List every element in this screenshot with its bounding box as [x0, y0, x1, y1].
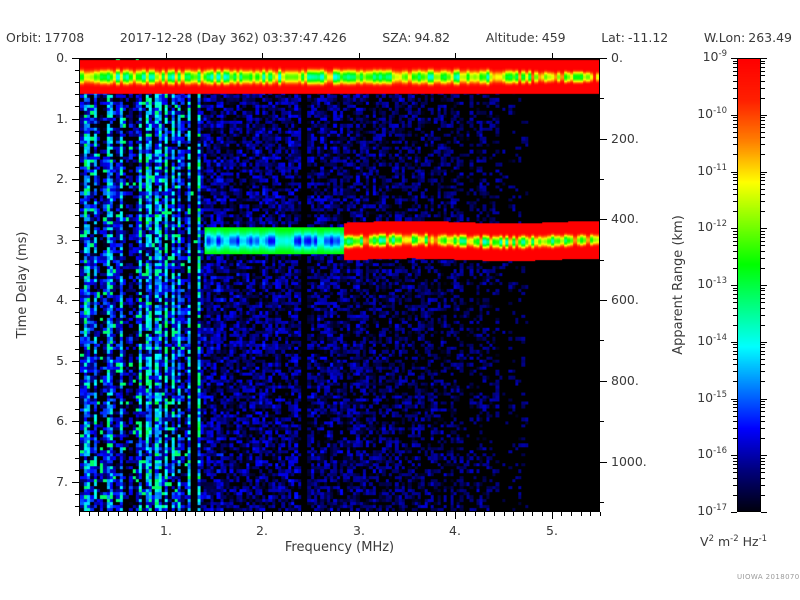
y-tick-label-7: 7. [0, 474, 68, 489]
cbar-tick-minor-left [733, 237, 737, 238]
cbar-tick-minor-right [761, 416, 765, 417]
cbar-tick-minor-left [733, 177, 737, 178]
y2-tick-minor [600, 98, 604, 99]
cbar-tick-minor-right [761, 411, 765, 412]
cbar-tick-minor-right [761, 468, 765, 469]
cbar-tick-mantissa: 10 [697, 106, 713, 121]
cbar-tick-minor-right [761, 67, 765, 68]
cbar-tick-minor-left [733, 308, 737, 309]
y-tick-minor [75, 324, 79, 325]
cbar-tick-minor-left [733, 344, 737, 345]
y-tick-label-6: 6. [0, 413, 68, 428]
cbar-tick-minor-left [733, 189, 737, 190]
y-tick-minor [75, 312, 79, 313]
y-tick-minor [75, 385, 79, 386]
cbar-tick-major-right [761, 399, 767, 400]
y2-tick-minor [600, 421, 604, 422]
cbar-tick-exponent: -9 [719, 49, 727, 59]
cbar-tick-minor-left [733, 458, 737, 459]
cbar-tick-minor-right [761, 308, 765, 309]
cbar-tick-major-right [761, 228, 767, 229]
cbar-tick-minor-right [761, 359, 765, 360]
cbar-tick-minor-right [761, 485, 765, 486]
cbar-tick-minor-right [761, 184, 765, 185]
cbar-tick-minor-right [761, 495, 765, 496]
y-tick-minor [75, 252, 79, 253]
cbar-tick-minor-left [733, 194, 737, 195]
cbar-tick-minor-right [761, 268, 765, 269]
y-tick-major [72, 300, 79, 301]
cbar-tick-minor-right [761, 458, 765, 459]
cbar-unit-hz: Hz [739, 534, 759, 549]
cbar-tick-minor-right [761, 137, 765, 138]
cbar-tick-major-right [761, 512, 767, 513]
cbar-tick-major-left [731, 228, 737, 229]
cbar-tick-minor-left [733, 201, 737, 202]
cbar-tick-minor-right [761, 231, 765, 232]
cbar-tick-label-7: 10-16 [0, 446, 727, 461]
cbar-tick-major-left [731, 172, 737, 173]
cbar-tick-minor-right [761, 302, 765, 303]
cbar-tick-minor-right [761, 237, 765, 238]
cbar-tick-label-5: 10-14 [0, 333, 727, 348]
cbar-tick-minor-right [761, 132, 765, 133]
cbar-tick-minor-right [761, 364, 765, 365]
header-field-value: 263.49 [748, 30, 792, 45]
cbar-tick-exponent: -16 [713, 446, 727, 456]
cbar-tick-minor-right [761, 61, 765, 62]
cbar-tick-minor-right [761, 288, 765, 289]
x-tick-label-4: 5. [538, 523, 566, 538]
cbar-tick-minor-left [733, 351, 737, 352]
y-tick-minor [75, 143, 79, 144]
cbar-tick-major-right [761, 342, 767, 343]
cbar-tick-label-0: 10-9 [0, 49, 727, 64]
cbar-tick-major-right [761, 115, 767, 116]
cbar-tick-minor-left [733, 61, 737, 62]
cbar-tick-minor-right [761, 63, 765, 64]
cbar-tick-minor-left [733, 132, 737, 133]
cbar-tick-minor-right [761, 428, 765, 429]
y-tick-minor [75, 70, 79, 71]
header-field-0: Orbit:17708 [6, 30, 84, 45]
y-tick-minor [75, 494, 79, 495]
cbar-tick-minor-right [761, 124, 765, 125]
y-tick-minor [75, 203, 79, 204]
cbar-tick-minor-right [761, 144, 765, 145]
header-field-key: Lat: [601, 30, 625, 45]
cbar-tick-minor-left [733, 180, 737, 181]
cbar-tick-mantissa: 10 [697, 446, 713, 461]
header-field-1: 2017-12-28 (Day 362) 03:37:47.426 [120, 30, 347, 45]
y-tick-minor [75, 470, 79, 471]
cbar-tick-exponent: -13 [713, 276, 727, 286]
cbar-tick-minor-right [761, 421, 765, 422]
cbar-tick-minor-left [733, 288, 737, 289]
cbar-tick-minor-right [761, 438, 765, 439]
cbar-unit-m: m [714, 534, 730, 549]
cbar-tick-mantissa: 10 [697, 276, 713, 291]
colorbar-unit-label: V2 m-2 Hz-1 [700, 534, 767, 549]
cbar-tick-minor-right [761, 478, 765, 479]
cbar-tick-minor-left [733, 411, 737, 412]
cbar-tick-minor-right [761, 351, 765, 352]
header-field-key: Orbit: [6, 30, 42, 45]
cbar-tick-minor-left [733, 315, 737, 316]
cbar-tick-minor-right [761, 315, 765, 316]
cbar-tick-minor-left [733, 98, 737, 99]
header-field-key: W.Lon: [704, 30, 745, 45]
y-tick-major [72, 361, 79, 362]
cbar-tick-minor-right [761, 177, 765, 178]
ionogram-figure: Orbit:177082017-12-28 (Day 362) 03:37:47… [0, 0, 800, 600]
cbar-tick-mantissa: 10 [697, 219, 713, 234]
cbar-tick-minor-left [733, 407, 737, 408]
cbar-tick-minor-right [761, 245, 765, 246]
cbar-tick-minor-right [761, 211, 765, 212]
y-tick-minor [75, 82, 79, 83]
cbar-tick-minor-right [761, 88, 765, 89]
cbar-tick-minor-left [733, 359, 737, 360]
y-tick-label-5: 5. [0, 353, 68, 368]
header-field-key: Altitude: [486, 30, 539, 45]
cbar-tick-minor-right [761, 298, 765, 299]
cbar-tick-major-right [761, 58, 767, 59]
header-field-key: SZA: [382, 30, 411, 45]
cbar-tick-label-1: 10-10 [0, 106, 727, 121]
y-tick-minor [75, 349, 79, 350]
header-field-value: 459 [542, 30, 566, 45]
cbar-tick-minor-left [733, 298, 737, 299]
cbar-tick-minor-left [733, 478, 737, 479]
cbar-tick-minor-left [733, 364, 737, 365]
y2-tick-major [600, 381, 607, 382]
cbar-tick-minor-right [761, 81, 765, 82]
cbar-tick-minor-left [733, 421, 737, 422]
cbar-tick-major-left [731, 342, 737, 343]
x-tick-label-2: 3. [345, 523, 373, 538]
cbar-tick-minor-right [761, 401, 765, 402]
y2-tick-major [600, 300, 607, 301]
header-field-value: 94.82 [414, 30, 450, 45]
header-field-5: W.Lon:263.49 [704, 30, 792, 45]
cbar-tick-minor-right [761, 472, 765, 473]
cbar-tick-major-right [761, 285, 767, 286]
cbar-tick-minor-right [761, 344, 765, 345]
y-tick-major [72, 240, 79, 241]
y2-tick-major [600, 139, 607, 140]
cbar-tick-exponent: -14 [713, 333, 727, 343]
cbar-tick-minor-right [761, 371, 765, 372]
cbar-tick-label-3: 10-12 [0, 219, 727, 234]
header-field-value: 17708 [45, 30, 85, 45]
y2-tick-minor [600, 260, 604, 261]
cbar-tick-minor-right [761, 127, 765, 128]
cbar-tick-major-left [731, 115, 737, 116]
y-tick-minor [75, 131, 79, 132]
x-tick-label-3: 4. [441, 523, 469, 538]
cbar-tick-minor-left [733, 495, 737, 496]
y-tick-major [72, 421, 79, 422]
cbar-tick-mantissa: 10 [697, 503, 713, 518]
cbar-tick-minor-left [733, 174, 737, 175]
cbar-tick-exponent: -15 [713, 390, 727, 400]
cbar-tick-minor-left [733, 71, 737, 72]
cbar-tick-minor-left [733, 81, 737, 82]
cbar-tick-label-4: 10-13 [0, 276, 727, 291]
y-tick-minor [75, 191, 79, 192]
y2-tick-label-4: 800. [611, 373, 639, 388]
y-tick-major [72, 482, 79, 483]
cbar-tick-minor-left [733, 245, 737, 246]
y-tick-minor [75, 264, 79, 265]
cbar-tick-minor-right [761, 120, 765, 121]
cbar-tick-minor-right [761, 154, 765, 155]
y-tick-minor [75, 155, 79, 156]
cbar-tick-minor-left [733, 184, 737, 185]
cbar-tick-minor-right [761, 294, 765, 295]
cbar-tick-minor-left [733, 75, 737, 76]
cbar-tick-minor-left [733, 290, 737, 291]
cbar-tick-minor-right [761, 71, 765, 72]
cbar-unit-m-exp: -2 [730, 534, 738, 544]
cbar-tick-minor-left [733, 211, 737, 212]
cbar-tick-mantissa: 10 [697, 163, 713, 178]
y-tick-minor [75, 94, 79, 95]
cbar-tick-minor-left [733, 268, 737, 269]
cbar-tick-minor-left [733, 120, 737, 121]
y2-tick-major [600, 462, 607, 463]
cbar-tick-minor-right [761, 98, 765, 99]
y2-tick-minor [600, 179, 604, 180]
cbar-tick-minor-right [761, 347, 765, 348]
colorbar-gradient [738, 59, 760, 511]
cbar-tick-minor-right [761, 464, 765, 465]
cbar-tick-minor-right [761, 354, 765, 355]
cbar-tick-minor-right [761, 194, 765, 195]
cbar-tick-major-right [761, 455, 767, 456]
cbar-tick-mantissa: 10 [697, 390, 713, 405]
cbar-tick-minor-right [761, 407, 765, 408]
y2-tick-label-3: 600. [611, 292, 639, 307]
cbar-tick-minor-right [761, 234, 765, 235]
y-tick-minor [75, 409, 79, 410]
cbar-tick-label-8: 10-17 [0, 503, 727, 518]
cbar-tick-minor-left [733, 154, 737, 155]
y-tick-minor [75, 433, 79, 434]
cbar-tick-minor-left [733, 67, 737, 68]
cbar-tick-minor-left [733, 241, 737, 242]
cbar-tick-major-right [761, 172, 767, 173]
header-field-value: 2017-12-28 (Day 362) 03:37:47.426 [120, 30, 347, 45]
cbar-tick-exponent: -10 [713, 106, 727, 116]
y-tick-major [72, 179, 79, 180]
cbar-tick-minor-left [733, 464, 737, 465]
cbar-tick-minor-left [733, 251, 737, 252]
y-tick-label-4: 4. [0, 292, 68, 307]
cbar-tick-minor-left [733, 88, 737, 89]
cbar-tick-minor-left [733, 127, 737, 128]
cbar-tick-major-left [731, 285, 737, 286]
cbar-tick-minor-left [733, 404, 737, 405]
cbar-tick-minor-right [761, 117, 765, 118]
cbar-tick-minor-right [761, 75, 765, 76]
cbar-tick-minor-right [761, 258, 765, 259]
cbar-tick-minor-right [761, 180, 765, 181]
header-field-4: Lat:-11.12 [601, 30, 668, 45]
cbar-tick-minor-left [733, 347, 737, 348]
cbar-tick-minor-left [733, 325, 737, 326]
cbar-tick-minor-left [733, 354, 737, 355]
cbar-tick-minor-left [733, 401, 737, 402]
cbar-tick-minor-left [733, 381, 737, 382]
cbar-unit-hz-exp: -1 [759, 534, 767, 544]
cbar-tick-minor-left [733, 124, 737, 125]
cbar-tick-minor-right [761, 251, 765, 252]
cbar-tick-mantissa: 10 [697, 333, 713, 348]
cbar-tick-minor-left [733, 144, 737, 145]
cbar-tick-minor-left [733, 472, 737, 473]
cbar-tick-minor-right [761, 290, 765, 291]
cbar-tick-major-left [731, 512, 737, 513]
cbar-tick-major-left [731, 399, 737, 400]
cbar-tick-exponent: -11 [713, 163, 727, 173]
cbar-unit-v: V [700, 534, 709, 549]
cbar-tick-minor-right [761, 381, 765, 382]
cbar-tick-minor-left [733, 258, 737, 259]
cbar-tick-minor-left [733, 371, 737, 372]
cbar-tick-minor-left [733, 438, 737, 439]
cbar-tick-minor-left [733, 468, 737, 469]
cbar-tick-minor-right [761, 174, 765, 175]
cbar-tick-minor-left [733, 302, 737, 303]
x-tick-label-1: 2. [248, 523, 276, 538]
y2-tick-label-1: 200. [611, 131, 639, 146]
cbar-tick-minor-right [761, 325, 765, 326]
cbar-tick-minor-left [733, 461, 737, 462]
cbar-tick-exponent: -17 [713, 503, 727, 513]
header-field-3: Altitude:459 [486, 30, 566, 45]
cbar-tick-mantissa: 10 [703, 49, 719, 64]
cbar-tick-minor-right [761, 189, 765, 190]
y-tick-minor [75, 215, 79, 216]
y-tick-minor [75, 373, 79, 374]
cbar-tick-minor-right [761, 241, 765, 242]
cbar-tick-label-6: 10-15 [0, 390, 727, 405]
header-field-value: -11.12 [628, 30, 668, 45]
colorbar[interactable] [737, 58, 761, 512]
cbar-tick-minor-left [733, 416, 737, 417]
cbar-tick-minor-right [761, 201, 765, 202]
cbar-tick-minor-left [733, 137, 737, 138]
header-field-2: SZA:94.82 [382, 30, 450, 45]
x-tick-label-0: 1. [152, 523, 180, 538]
cbar-tick-minor-left [733, 294, 737, 295]
cbar-tick-minor-left [733, 234, 737, 235]
cbar-tick-minor-left [733, 63, 737, 64]
y-tick-label-3: 3. [0, 232, 68, 247]
cbar-tick-minor-left [733, 485, 737, 486]
header-metadata: Orbit:177082017-12-28 (Day 362) 03:37:47… [0, 30, 800, 45]
cbar-tick-minor-left [733, 231, 737, 232]
cbar-tick-major-left [731, 455, 737, 456]
cbar-tick-minor-right [761, 461, 765, 462]
cbar-tick-major-left [731, 58, 737, 59]
cbar-tick-minor-left [733, 117, 737, 118]
watermark: UIOWA 20180701 [737, 573, 800, 581]
cbar-tick-minor-right [761, 404, 765, 405]
x-axis-title: Frequency (MHz) [0, 540, 740, 555]
cbar-tick-label-2: 10-11 [0, 163, 727, 178]
cbar-tick-exponent: -12 [713, 219, 727, 229]
cbar-tick-minor-left [733, 428, 737, 429]
